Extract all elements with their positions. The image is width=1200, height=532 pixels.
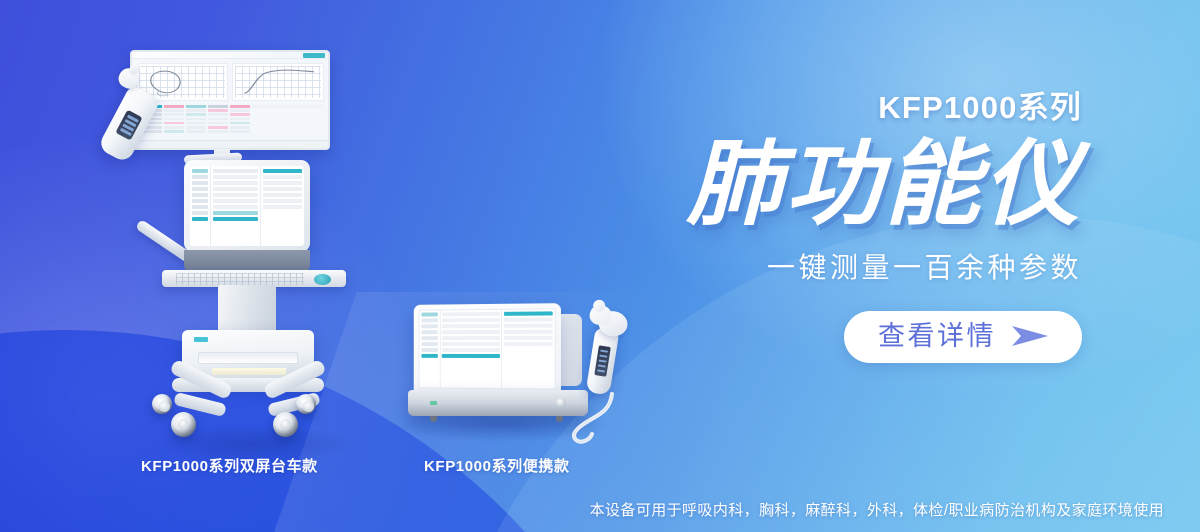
handle-mouthpiece	[587, 302, 632, 340]
printer-output-tray	[212, 368, 286, 375]
table-row	[136, 122, 324, 125]
table-row	[136, 126, 324, 129]
touchscreen-ui	[190, 166, 304, 246]
product-image-cart	[96, 42, 366, 452]
mouse	[314, 274, 331, 285]
caption-cart-model: KFP1000系列双屏台车款	[141, 455, 318, 476]
portable-foot-left	[430, 416, 437, 422]
view-details-button[interactable]: 查看详情	[844, 311, 1082, 363]
portable-screen	[414, 303, 561, 395]
page-title: 肺功能仪	[686, 137, 1082, 232]
table-row	[136, 130, 324, 133]
spirometer-display	[115, 110, 142, 141]
hero-subtitle: 一键测量一百余种参数	[698, 254, 1082, 282]
top-monitor-statusbar	[132, 140, 328, 148]
cart-caster-front-left	[171, 412, 196, 437]
cart-caster-rear-right	[296, 394, 316, 414]
touchscreen-data-table	[211, 166, 261, 246]
table-row	[136, 109, 324, 112]
product-image-portable	[404, 300, 634, 445]
portable-power-indicator	[430, 401, 437, 405]
top-monitor-results-table	[132, 105, 328, 133]
top-monitor-charts	[132, 59, 328, 105]
portable-sidebar	[419, 310, 440, 387]
volume-time-chart	[232, 63, 324, 101]
printer-indicator	[194, 337, 208, 342]
hero-copy-block: KFP1000系列 肺功能仪 一键测量一百余种参数 查看详情	[698, 92, 1082, 363]
touchscreen-detail-panel	[261, 166, 304, 246]
top-monitor-toolbar	[132, 52, 328, 59]
cart-top-monitor	[130, 50, 330, 150]
product-series-label: KFP1000系列	[698, 92, 1082, 123]
portable-spirometer-handle	[573, 301, 633, 403]
portable-detail-panel	[502, 309, 554, 388]
table-header-row	[136, 105, 324, 108]
cart-caster-front-right	[273, 412, 298, 437]
portable-data-table	[441, 310, 503, 388]
cart-touchscreen-monitor	[184, 160, 310, 252]
product-hero-banner: KFP1000系列双屏台车款 KFP1000系列便携款 KFP1000系列 肺功…	[0, 0, 1200, 532]
table-row	[136, 118, 324, 121]
table-row	[136, 113, 324, 116]
touchscreen-sidebar	[190, 166, 211, 246]
cart-caster-rear-left	[152, 394, 172, 414]
cart-column	[218, 285, 276, 333]
caption-portable-model: KFP1000系列便携款	[424, 455, 570, 476]
usage-disclaimer: 本设备可用于呼吸内科，胸科，麻醉科，外科，体检/职业病防治机构及家庭环境使用	[590, 499, 1164, 520]
keyboard	[176, 273, 304, 285]
arrow-right-icon	[1010, 323, 1052, 349]
spirometer-cable	[554, 392, 618, 446]
printer-paper-slot	[198, 352, 298, 364]
handle-display	[594, 345, 611, 377]
touchscreen-bezel	[184, 250, 310, 272]
view-details-label: 查看详情	[878, 323, 996, 350]
portable-screen-ui	[419, 308, 556, 389]
volume-time-curve	[233, 64, 323, 100]
